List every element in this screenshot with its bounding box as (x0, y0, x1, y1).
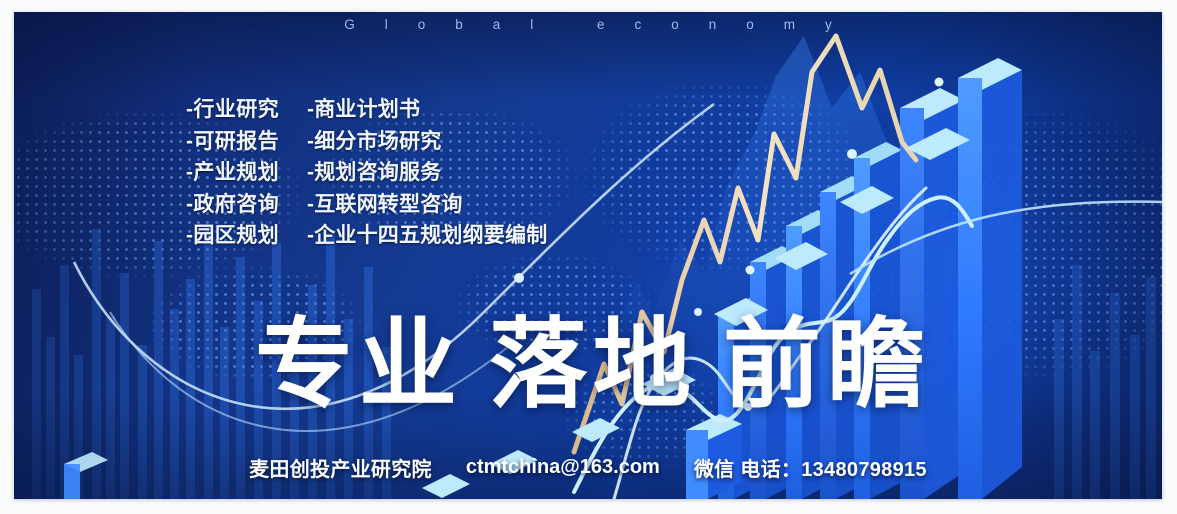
service-item: -规划咨询服务 (307, 157, 547, 189)
headline-word-2: 落地 (489, 309, 697, 419)
services-lists: -行业研究 -可研报告 -产业规划 -政府咨询 -园区规划 -商业计划书 -细分… (186, 94, 547, 252)
footer-contact-bar: 麦田创投产业研究院 ctmtchina@163.com 微信 电话：134807… (14, 452, 1162, 482)
page-title: 专业落地前瞻 (14, 312, 1162, 416)
service-item: -商业计划书 (307, 94, 547, 126)
service-item: -产业规划 (186, 157, 279, 189)
service-item: -行业研究 (186, 94, 279, 126)
service-item: -企业十四五规划纲要编制 (307, 220, 547, 252)
service-item: -细分市场研究 (307, 126, 547, 158)
headline-word-3: 前瞻 (723, 309, 931, 419)
org-name: 麦田创投产业研究院 (249, 453, 432, 482)
service-item: -可研报告 (186, 126, 279, 158)
service-item: -园区规划 (186, 220, 279, 252)
headline-word-1: 专业 (255, 309, 463, 419)
services-column-right: -商业计划书 -细分市场研究 -规划咨询服务 -互联网转型咨询 -企业十四五规划… (307, 94, 547, 252)
services-column-left: -行业研究 -可研报告 -产业规划 -政府咨询 -园区规划 (186, 94, 279, 252)
phone-contact: 微信 电话：13480798915 (694, 453, 927, 482)
service-item: -互联网转型咨询 (307, 189, 547, 221)
growth-chart-graphic (14, 12, 1162, 499)
promo-banner: Global economy -行业研究 -可研报告 -产业规划 -政府咨询 -… (14, 12, 1162, 499)
service-item: -政府咨询 (186, 189, 279, 221)
kicker-text: Global economy (14, 13, 1162, 37)
email-address[interactable]: ctmtchina@163.com (466, 456, 660, 479)
